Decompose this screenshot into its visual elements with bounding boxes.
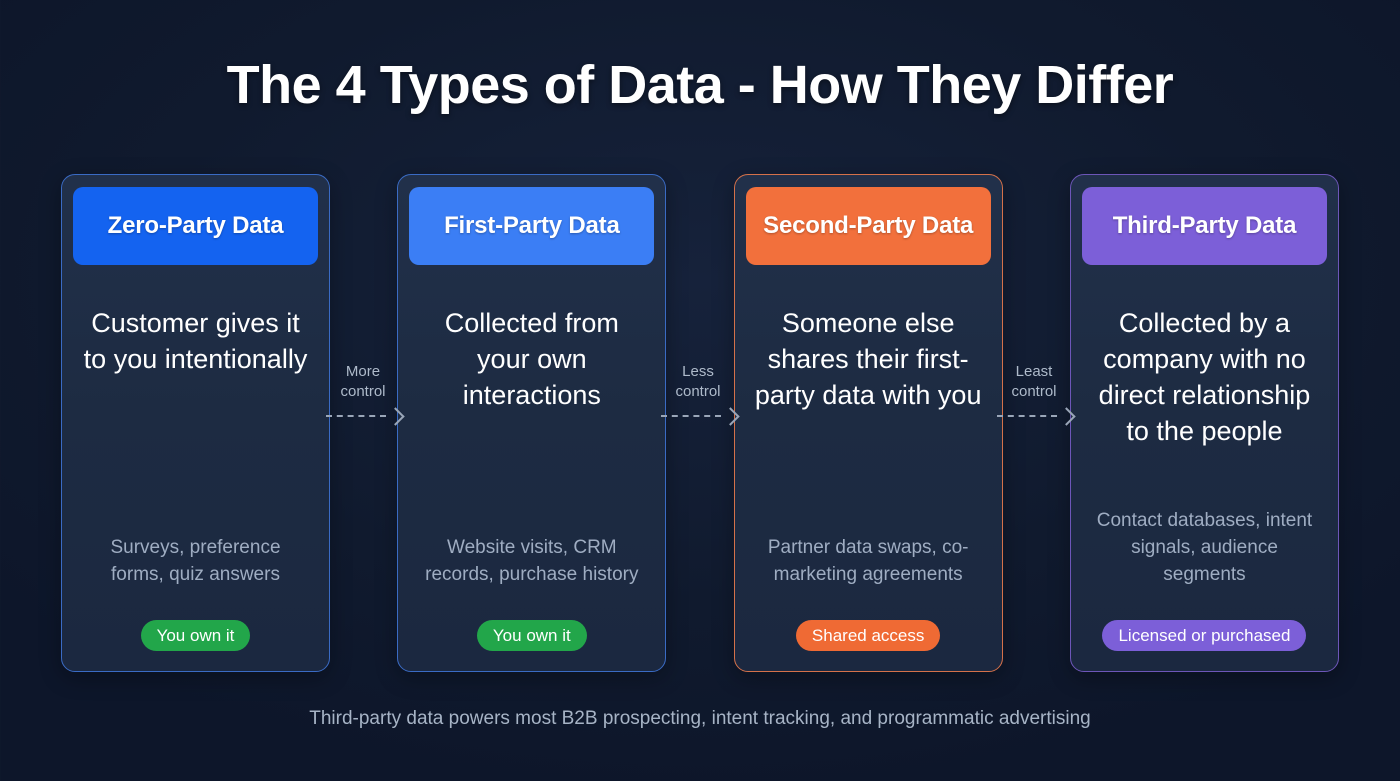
card-examples-first-party: Website visits, CRM records, purchase hi… bbox=[418, 534, 646, 588]
infographic-canvas: The 4 Types of Data - How They Differ Ze… bbox=[0, 0, 1400, 781]
data-type-card-first-party[interactable]: First-Party Data Collected from your own… bbox=[397, 174, 666, 672]
card-examples-third-party: Contact databases, intent signals, audie… bbox=[1090, 507, 1318, 588]
card-description-first-party: Collected from your own interactions bbox=[416, 305, 648, 413]
data-type-card-third-party[interactable]: Third-Party Data Collected by a company … bbox=[1070, 174, 1339, 672]
card-description-third-party: Collected by a company with no direct re… bbox=[1088, 305, 1320, 449]
card-examples-second-party: Partner data swaps, co-marketing agreeme… bbox=[754, 534, 982, 588]
card-badge-zero-party: You own it bbox=[141, 620, 251, 651]
card-header-zero-party: Zero-Party Data bbox=[73, 187, 318, 265]
card-header-first-party: First-Party Data bbox=[409, 187, 654, 265]
card-header-third-party: Third-Party Data bbox=[1082, 187, 1327, 265]
footer-note: Third-party data powers most B2B prospec… bbox=[0, 708, 1400, 730]
data-type-cards-row: Zero-Party Data Customer gives it to you… bbox=[61, 174, 1339, 672]
card-badge-first-party: You own it bbox=[477, 620, 587, 651]
card-examples-zero-party: Surveys, preference forms, quiz answers bbox=[82, 534, 310, 588]
card-description-zero-party: Customer gives it to you intentionally bbox=[80, 305, 312, 377]
data-type-card-second-party[interactable]: Second-Party Data Someone else shares th… bbox=[734, 174, 1003, 672]
card-header-second-party: Second-Party Data bbox=[746, 187, 991, 265]
page-title: The 4 Types of Data - How They Differ bbox=[0, 54, 1400, 116]
card-badge-second-party: Shared access bbox=[796, 620, 940, 651]
card-badge-third-party: Licensed or purchased bbox=[1102, 620, 1306, 651]
card-description-second-party: Someone else shares their first-party da… bbox=[752, 305, 984, 413]
data-type-card-zero-party[interactable]: Zero-Party Data Customer gives it to you… bbox=[61, 174, 330, 672]
